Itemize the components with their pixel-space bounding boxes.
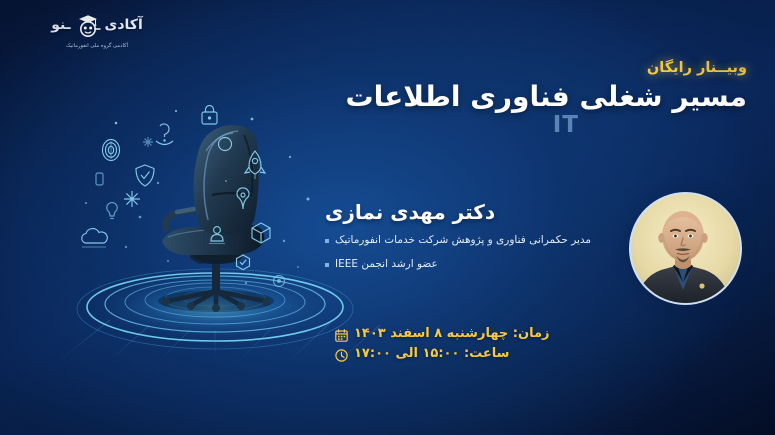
headline-block: وبیــنار رایگان مسیر شغلی فناوری اطلاعات…: [327, 60, 747, 138]
clock-icon: [335, 347, 348, 360]
headline-subtitle: IT: [327, 112, 747, 138]
speaker-block: دکتر مهدی نمازی مدیر حکمرانی فناوری و پژ…: [325, 200, 625, 281]
list-item: مدیر حکمرانی فناوری و پژوهش شرکت خدمات ا…: [325, 233, 625, 249]
bullet-square-icon: [325, 239, 329, 243]
speaker-credential: مدیر حکمرانی فناوری و پژوهش شرکت خدمات ا…: [335, 233, 591, 249]
page-title: مسیر شغلی فناوری اطلاعات: [327, 79, 747, 114]
webinar-poster: آکادی ـنو آکادمی گروه ملی انفورماتیک: [0, 0, 775, 435]
speaker-credential: عضو ارشد انجمن IEEE: [335, 257, 438, 273]
logo-row: آکادی ـنو: [12, 8, 182, 42]
avatar: [629, 192, 742, 305]
speaker-name: دکتر مهدی نمازی: [325, 200, 625, 224]
logo-word-left: ـنو: [51, 17, 70, 33]
bullet-square-icon: [325, 263, 329, 267]
event-time-text: ساعت: ۱۵:۰۰ الی ۱۷:۰۰: [354, 346, 509, 361]
brand-logo: آکادی ـنو آکادمی گروه ملی انفورماتیک: [12, 8, 182, 49]
event-time-row: ساعت: ۱۵:۰۰ الی ۱۷:۰۰: [335, 346, 615, 361]
event-meta: زمان: چهارشنبه ۸ اسفند ۱۴۰۳ ساعت: ۱۵:۰۰ …: [335, 326, 615, 366]
event-date-text: زمان: چهارشنبه ۸ اسفند ۱۴۰۳: [354, 326, 550, 341]
eyebrow-label: وبیــنار رایگان: [327, 60, 747, 76]
event-date-row: زمان: چهارشنبه ۸ اسفند ۱۴۰۳: [335, 326, 615, 341]
academy-owl-graduate-icon: [73, 10, 103, 40]
list-item: عضو ارشد انجمن IEEE: [325, 257, 625, 273]
brand-tagline: آکادمی گروه ملی انفورماتیک: [12, 43, 182, 49]
logo-word-right: آکادی: [105, 17, 143, 33]
calendar-icon: [335, 327, 348, 340]
